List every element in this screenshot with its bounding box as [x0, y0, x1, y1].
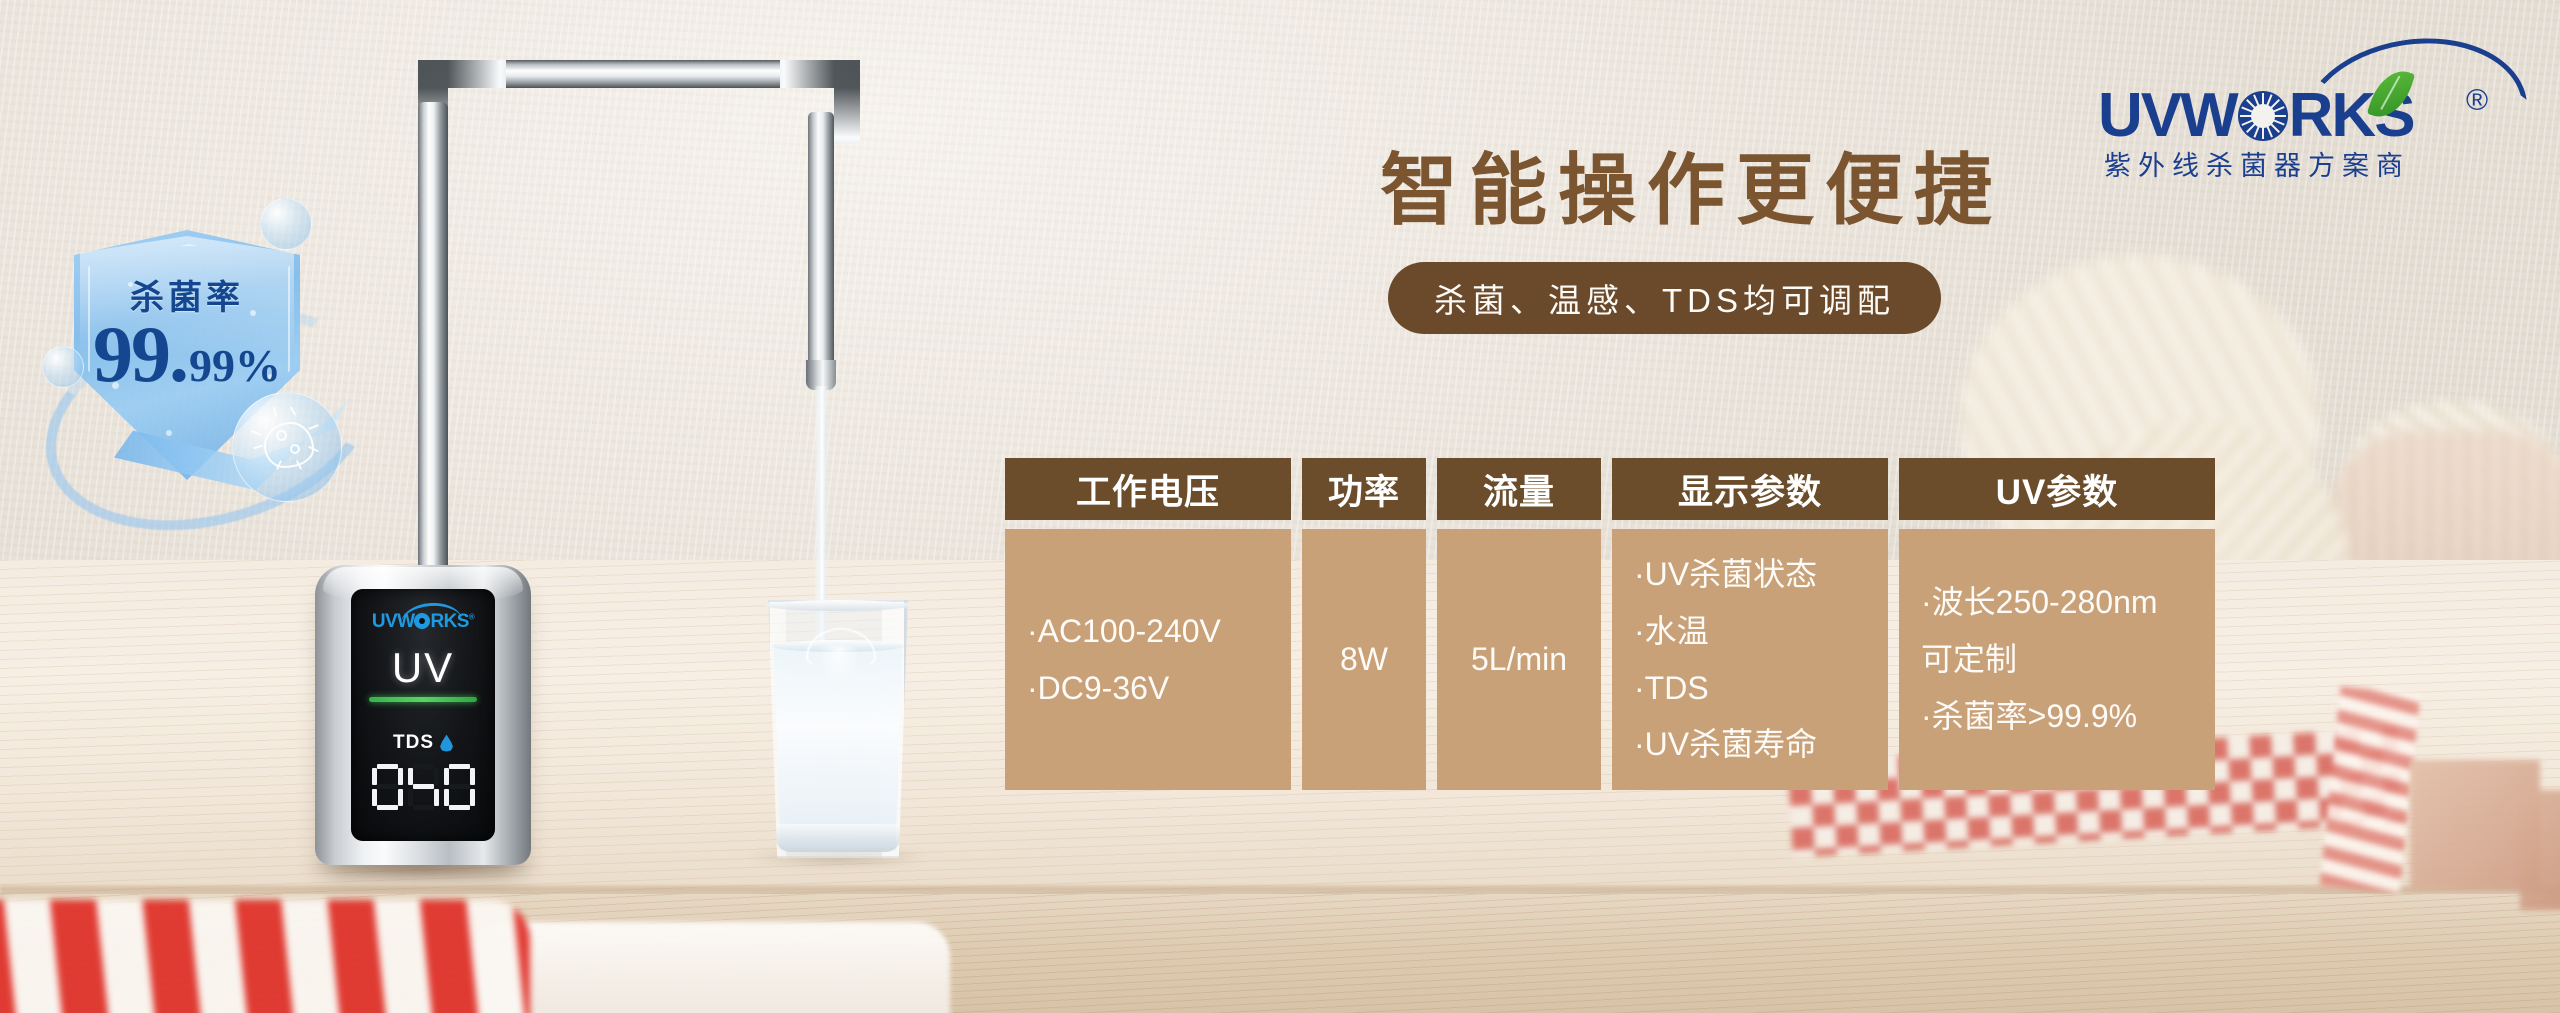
- page-title: 智能操作更便捷: [1380, 128, 2003, 240]
- seven-segment-digit: [372, 764, 403, 810]
- spec-column: 功率 8W: [1302, 458, 1426, 790]
- shield-speck: [166, 430, 172, 436]
- uv-sterilizer-device: UVW RKS® UV TDS: [315, 565, 531, 865]
- spec-value: 5L/min: [1471, 631, 1567, 688]
- device-logo-sun-icon: [414, 613, 430, 629]
- spec-value: ·AC100-240V: [1027, 603, 1221, 660]
- spec-header-label: 功率: [1328, 464, 1400, 515]
- registered-trademark-icon: ®: [2466, 84, 2488, 118]
- product-banner: UVW RKS® UV TDS: [0, 0, 2560, 1013]
- badge-value-minor: 99%: [189, 340, 281, 391]
- spec-header-label: 显示参数: [1678, 464, 1822, 515]
- specification-table: 工作电压 ·AC100-240V ·DC9-36V 功率 8W 流量 5L/mi…: [1005, 458, 2305, 790]
- device-mode-label: UV: [392, 647, 454, 689]
- spec-column: 流量 5L/min: [1437, 458, 1601, 790]
- spec-header-label: 流量: [1483, 464, 1555, 515]
- spec-column-header: 功率: [1302, 458, 1426, 520]
- feature-pill: 杀菌、温感、TDS均可调配: [1388, 262, 1941, 334]
- spec-value: ·水温: [1634, 603, 1709, 660]
- spec-column-header: 显示参数: [1612, 458, 1888, 520]
- bacteria-dot: [276, 430, 287, 441]
- spec-column-body: ·AC100-240V ·DC9-36V: [1005, 529, 1291, 790]
- spec-value: ·杀菌率>99.9%: [1921, 688, 2137, 745]
- seven-segment-digit: [444, 764, 475, 810]
- spec-value: ·波长250-280nm: [1921, 574, 2158, 631]
- spec-column: UV参数 ·波长250-280nm 可定制 ·杀菌率>99.9%: [1899, 458, 2215, 790]
- bacteria-icon: [256, 414, 318, 472]
- device-tds-label: TDS: [393, 732, 434, 754]
- glass-rim: [765, 600, 911, 611]
- chrome-faucet: [418, 60, 838, 580]
- spec-column: 工作电压 ·AC100-240V ·DC9-36V: [1005, 458, 1291, 790]
- brand-logo[interactable]: UVW RKS ® 紫外线杀菌器方案商: [2098, 38, 2508, 166]
- seven-segment-digit: [408, 764, 439, 810]
- water-glass: [762, 600, 914, 858]
- sun-burst-icon: [2238, 91, 2288, 141]
- spec-header-label: 工作电压: [1076, 464, 1220, 515]
- spec-column-header: 流量: [1437, 458, 1601, 520]
- spec-column-body: ·波长250-280nm 可定制 ·杀菌率>99.9%: [1899, 529, 2215, 790]
- spec-column-body: ·UV杀菌状态 ·水温 ·TDS ·UV杀菌寿命: [1612, 529, 1888, 790]
- spec-column: 显示参数 ·UV杀菌状态 ·水温 ·TDS ·UV杀菌寿命: [1612, 458, 1888, 790]
- bacteria-dot: [290, 444, 300, 454]
- spec-column-body: 8W: [1302, 529, 1426, 790]
- spec-value: ·TDS: [1634, 660, 1709, 717]
- bubble-icon: [260, 198, 312, 250]
- faucet-spout-tube: [808, 112, 834, 380]
- logo-wordmark: UVW RKS: [2098, 80, 2414, 151]
- device-tds-row: TDS: [393, 732, 453, 754]
- bubble-icon: [42, 346, 84, 388]
- spec-value: ·DC9-36V: [1027, 660, 1169, 717]
- glass-base: [776, 824, 900, 852]
- device-status-bar: [369, 697, 477, 702]
- spec-value: 可定制: [1921, 631, 2017, 688]
- device-brand-logo: UVW RKS®: [372, 611, 474, 633]
- logo-tagline: 紫外线杀菌器方案商: [2104, 144, 2410, 183]
- sterilization-rate-badge: 杀菌率 99.99%: [36, 186, 366, 516]
- water-drop-icon: [440, 735, 453, 752]
- device-brand-registered: ®: [469, 613, 474, 622]
- spec-value: ·UV杀菌状态: [1634, 546, 1817, 603]
- spec-column-header: UV参数: [1899, 458, 2215, 520]
- feature-pill-label: 杀菌、温感、TDS均可调配: [1434, 274, 1895, 322]
- lower-surface-grain: [0, 894, 2560, 1013]
- device-display-screen[interactable]: UVW RKS® UV TDS: [351, 589, 495, 841]
- badge-value-major: 99: [93, 311, 169, 399]
- spec-value: ·UV杀菌寿命: [1634, 716, 1817, 773]
- logo-text-part1: UVW: [2098, 80, 2237, 151]
- faucet-riser: [418, 102, 448, 580]
- device-tds-value: [372, 764, 475, 810]
- bacteria-cilium: [308, 424, 319, 430]
- badge-value: 99.99%: [70, 310, 304, 401]
- leaf-vein: [2380, 76, 2400, 110]
- spec-column-header: 工作电压: [1005, 458, 1291, 520]
- spec-column-body: 5L/min: [1437, 529, 1601, 790]
- spec-header-label: UV参数: [1996, 464, 2119, 515]
- badge-value-dot: .: [169, 311, 189, 399]
- spec-value: 8W: [1340, 631, 1388, 688]
- bacteria-body: [264, 422, 314, 468]
- lower-surface: [0, 894, 2560, 1013]
